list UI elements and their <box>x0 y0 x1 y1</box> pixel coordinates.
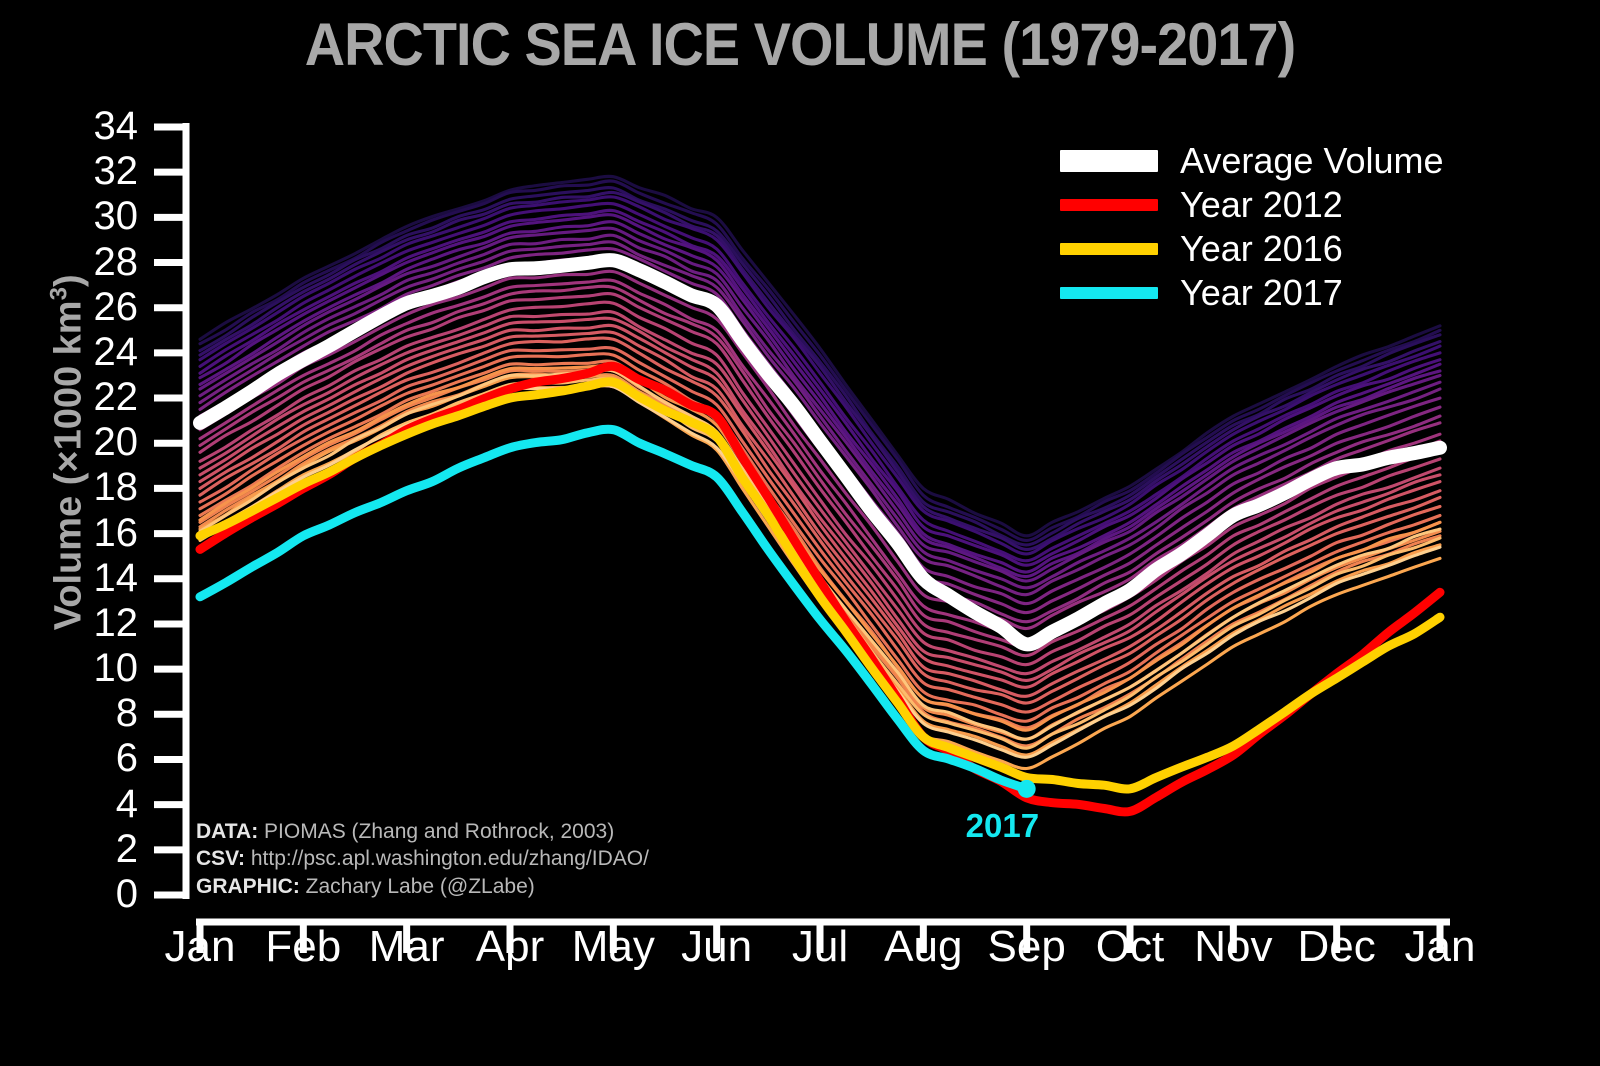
credit-value-2: Zachary Labe (@ZLabe) <box>300 875 535 898</box>
credit-value-1: http://psc.apl.washington.edu/zhang/IDAO… <box>245 847 649 870</box>
credits-block: DATA: PIOMAS (Zhang and Rothrock, 2003)C… <box>196 818 649 900</box>
y-tick-label-10: 10 <box>48 648 138 688</box>
credit-line-0: DATA: PIOMAS (Zhang and Rothrock, 2003) <box>196 818 649 845</box>
credit-key-2: GRAPHIC: <box>196 875 300 898</box>
credit-key-1: CSV: <box>196 847 245 870</box>
y-tick-label-30: 30 <box>48 196 138 236</box>
legend-label-3: Year 2017 <box>1180 275 1343 311</box>
y-tick-label-20: 20 <box>48 422 138 462</box>
series-line-2014 <box>200 370 1440 739</box>
y-tick-label-18: 18 <box>48 467 138 507</box>
credit-key-0: DATA: <box>196 820 258 843</box>
legend-label-1: Year 2012 <box>1180 187 1343 223</box>
y-tick-label-28: 28 <box>48 242 138 282</box>
y-tick-label-8: 8 <box>48 693 138 733</box>
y-tick-label-2: 2 <box>48 829 138 869</box>
endpoint-marker-2017 <box>1018 780 1036 798</box>
legend-swatch-icon-2 <box>1060 243 1158 255</box>
y-tick-label-22: 22 <box>48 377 138 417</box>
y-tick-label-32: 32 <box>48 151 138 191</box>
credit-value-0: PIOMAS (Zhang and Rothrock, 2003) <box>258 820 614 843</box>
y-tick-label-34: 34 <box>48 106 138 146</box>
y-tick-label-16: 16 <box>48 513 138 553</box>
y-tick-label-4: 4 <box>48 784 138 824</box>
legend-item-year-2012[interactable]: Year 2012 <box>1060 184 1444 226</box>
legend: Average VolumeYear 2012Year 2016Year 201… <box>1060 140 1444 316</box>
legend-item-year-2017[interactable]: Year 2017 <box>1060 272 1444 314</box>
y-tick-label-26: 26 <box>48 287 138 327</box>
chart-canvas: ARCTIC SEA ICE VOLUME (1979-2017) Volume… <box>0 0 1600 1066</box>
credit-line-2: GRAPHIC: Zachary Labe (@ZLabe) <box>196 873 649 900</box>
credit-line-1: CSV: http://psc.apl.washington.edu/zhang… <box>196 845 649 872</box>
legend-swatch-icon-1 <box>1060 199 1158 211</box>
y-tick-label-24: 24 <box>48 332 138 372</box>
legend-label-2: Year 2016 <box>1180 231 1343 267</box>
y-tick-label-6: 6 <box>48 738 138 778</box>
legend-swatch-icon-3 <box>1060 287 1158 299</box>
series-line-2003 <box>200 338 1440 703</box>
legend-swatch-icon-0 <box>1060 150 1158 172</box>
x-tick-label-jan-12: Jan <box>1370 925 1510 969</box>
legend-label-0: Average Volume <box>1180 143 1444 179</box>
y-tick-label-12: 12 <box>48 603 138 643</box>
endpoint-marker-layer <box>1018 780 1036 798</box>
annotation-2017: 2017 <box>966 807 1039 845</box>
legend-item-year-2016[interactable]: Year 2016 <box>1060 228 1444 270</box>
y-tick-label-14: 14 <box>48 558 138 598</box>
legend-item-average-volume[interactable]: Average Volume <box>1060 140 1444 182</box>
y-tick-label-0: 0 <box>48 874 138 914</box>
